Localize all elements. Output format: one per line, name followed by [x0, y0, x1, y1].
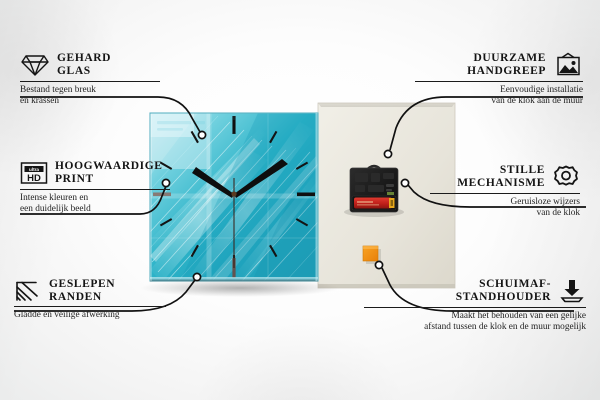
foam-spacer-icon: [558, 278, 586, 304]
callout-dot-gehard-glas: [198, 131, 205, 138]
feature-gehard-glas: GEHARD GLAS Bestand tegen breuk en krass…: [20, 52, 160, 108]
feature-schuimaf-standhouder: SCHUIMAF- STANDHOUDER Maakt het behouden…: [364, 278, 586, 334]
feature-description: Maakt het behouden van een gelijke afsta…: [364, 311, 586, 334]
feature-description: Bestand tegen breuk en krassen: [20, 85, 160, 108]
svg-text:HD: HD: [27, 173, 41, 184]
feature-title: STILLE MECHANISME: [457, 164, 545, 189]
divider: [20, 189, 170, 190]
divider: [364, 307, 586, 308]
battery: [354, 198, 392, 209]
callout-dot-schuimaf-standhouder: [375, 261, 382, 268]
callout-dot-stille-mechanisme: [401, 179, 408, 186]
clock-ticks-cardinal: [153, 116, 315, 278]
feature-description: Gladde en veilige afwerking: [14, 310, 166, 321]
feature-title: GESLEPEN RANDEN: [49, 278, 115, 303]
gear-icon: [552, 164, 580, 190]
picture-hanger-icon: [553, 52, 583, 78]
clock-center-pin: [231, 191, 236, 196]
hour-hand: [192, 167, 234, 198]
divider: [430, 193, 580, 194]
clock-mechanism: [344, 166, 404, 217]
divider: [415, 81, 583, 82]
feature-stille-mechanisme: STILLE MECHANISME Geruisloze wijzers van…: [430, 164, 580, 220]
feature-duurzame-handgreep: DUURZAME HANDGREEP Eenvoudige installati…: [415, 52, 583, 108]
divider: [14, 306, 166, 307]
feature-hoogwaardige-print: ultra HD HOOGWAARDIGE PRINT Intense kleu…: [20, 160, 170, 216]
clock-shadow: [140, 279, 340, 297]
feature-description: Eenvoudige installatie van de klok aan d…: [415, 85, 583, 108]
feature-description: Geruisloze wijzers van de klok: [430, 197, 580, 220]
feature-title: SCHUIMAF- STANDHOUDER: [456, 278, 551, 303]
divider: [20, 81, 160, 82]
infographic-canvas: GEHARD GLAS Bestand tegen breuk en krass…: [0, 0, 600, 400]
ultra-hd-icon: ultra HD: [20, 160, 48, 186]
hanging-hook-icon: [365, 166, 383, 172]
clock-face: [150, 113, 318, 282]
diamond-icon: [20, 52, 50, 78]
clock-ticks: [160, 120, 307, 268]
foam-spacer: [363, 246, 381, 264]
feature-title: HOOGWAARDIGE PRINT: [55, 160, 163, 185]
feature-description: Intense kleuren en een duidelijk beeld: [20, 193, 170, 216]
ground-edges-icon: [14, 279, 42, 303]
callout-dots: [162, 131, 408, 280]
minute-hand: [234, 159, 288, 198]
callout-dot-duurzame-handgreep: [384, 150, 391, 157]
svg-text:ultra: ultra: [29, 167, 39, 172]
feature-title: DUURZAME HANDGREEP: [467, 52, 546, 77]
callout-dot-geslepen-randen: [193, 273, 200, 280]
feature-title: GEHARD GLAS: [57, 52, 111, 77]
clock-hands: [192, 159, 288, 268]
feature-geslepen-randen: GESLEPEN RANDEN Gladde en veilige afwerk…: [14, 278, 166, 322]
